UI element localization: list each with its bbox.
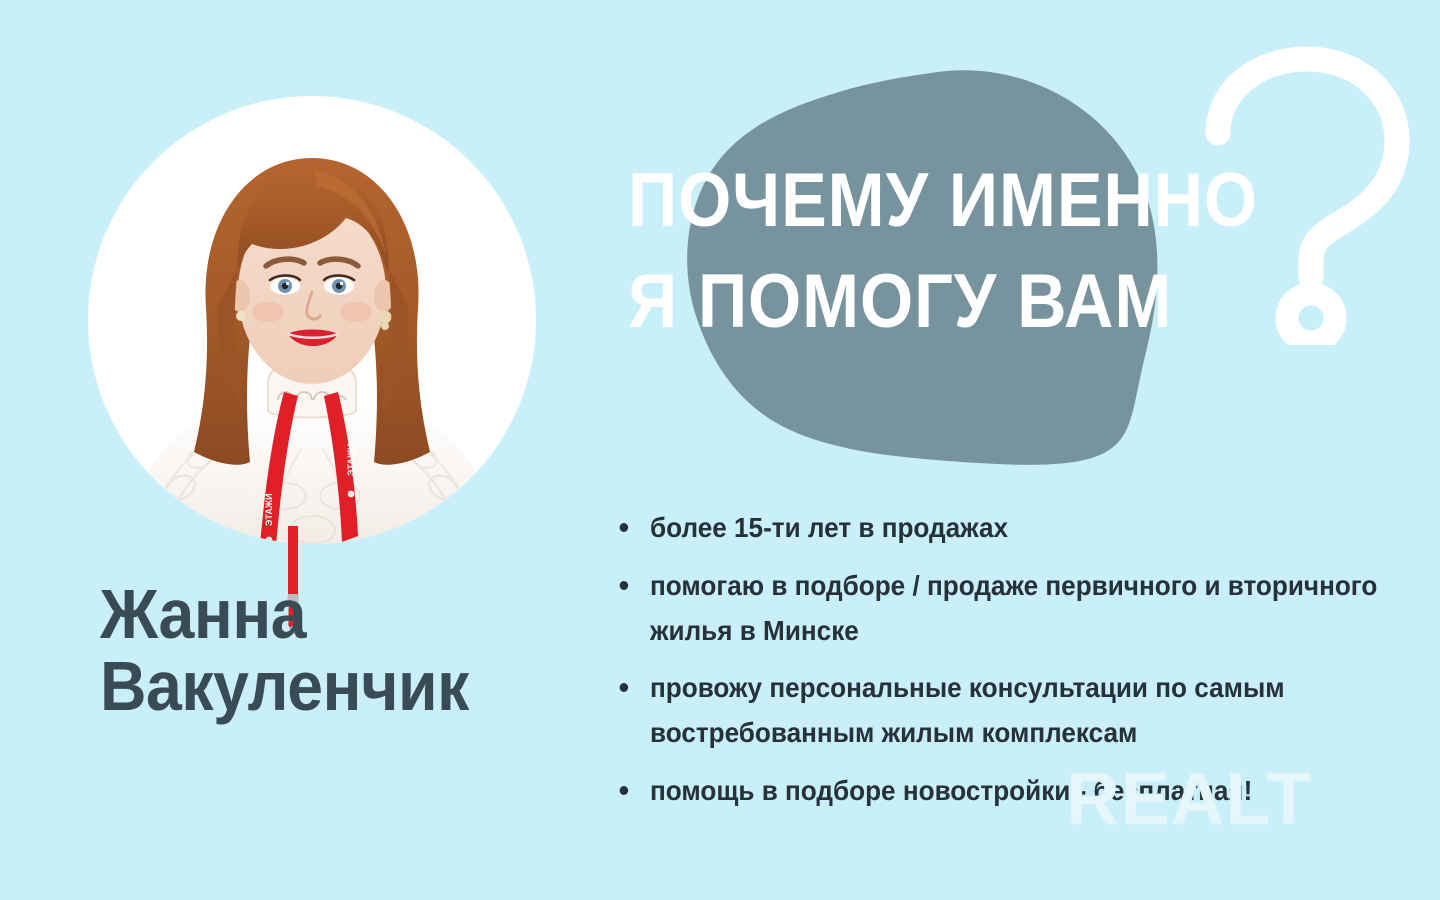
headline-line-2: Я ПОМОГУ ВАМ bbox=[628, 251, 1258, 352]
benefit-item: помогаю в подборе / продаже первичного и… bbox=[612, 564, 1382, 654]
headline-line-1: ПОЧЕМУ ИМЕННО bbox=[628, 150, 1258, 251]
lanyard-text-right: ЭТАЖИ bbox=[346, 444, 356, 476]
benefit-item: помощь в подборе новостройки - бесплатна… bbox=[612, 769, 1382, 814]
lanyard-text-left: ЭТАЖИ bbox=[264, 494, 274, 526]
agent-photo: ЭТАЖИ ЭТАЖИ bbox=[88, 96, 536, 544]
benefit-item: более 15-ти лет в продажах bbox=[612, 506, 1382, 551]
benefits-list: более 15-ти лет в продажах помогаю в под… bbox=[612, 506, 1422, 827]
headline: ПОЧЕМУ ИМЕННО Я ПОМОГУ ВАМ bbox=[628, 150, 1328, 352]
promo-card: ПОЧЕМУ ИМЕННО Я ПОМОГУ ВАМ bbox=[0, 0, 1440, 900]
agent-photo-circle: ЭТАЖИ ЭТАЖИ bbox=[88, 96, 536, 544]
agent-portrait-illustration: ЭТАЖИ ЭТАЖИ bbox=[88, 96, 536, 544]
agent-name: Жанна Вакуленчик bbox=[100, 578, 578, 722]
benefit-item: провожу персональные консультации по сам… bbox=[612, 666, 1382, 756]
